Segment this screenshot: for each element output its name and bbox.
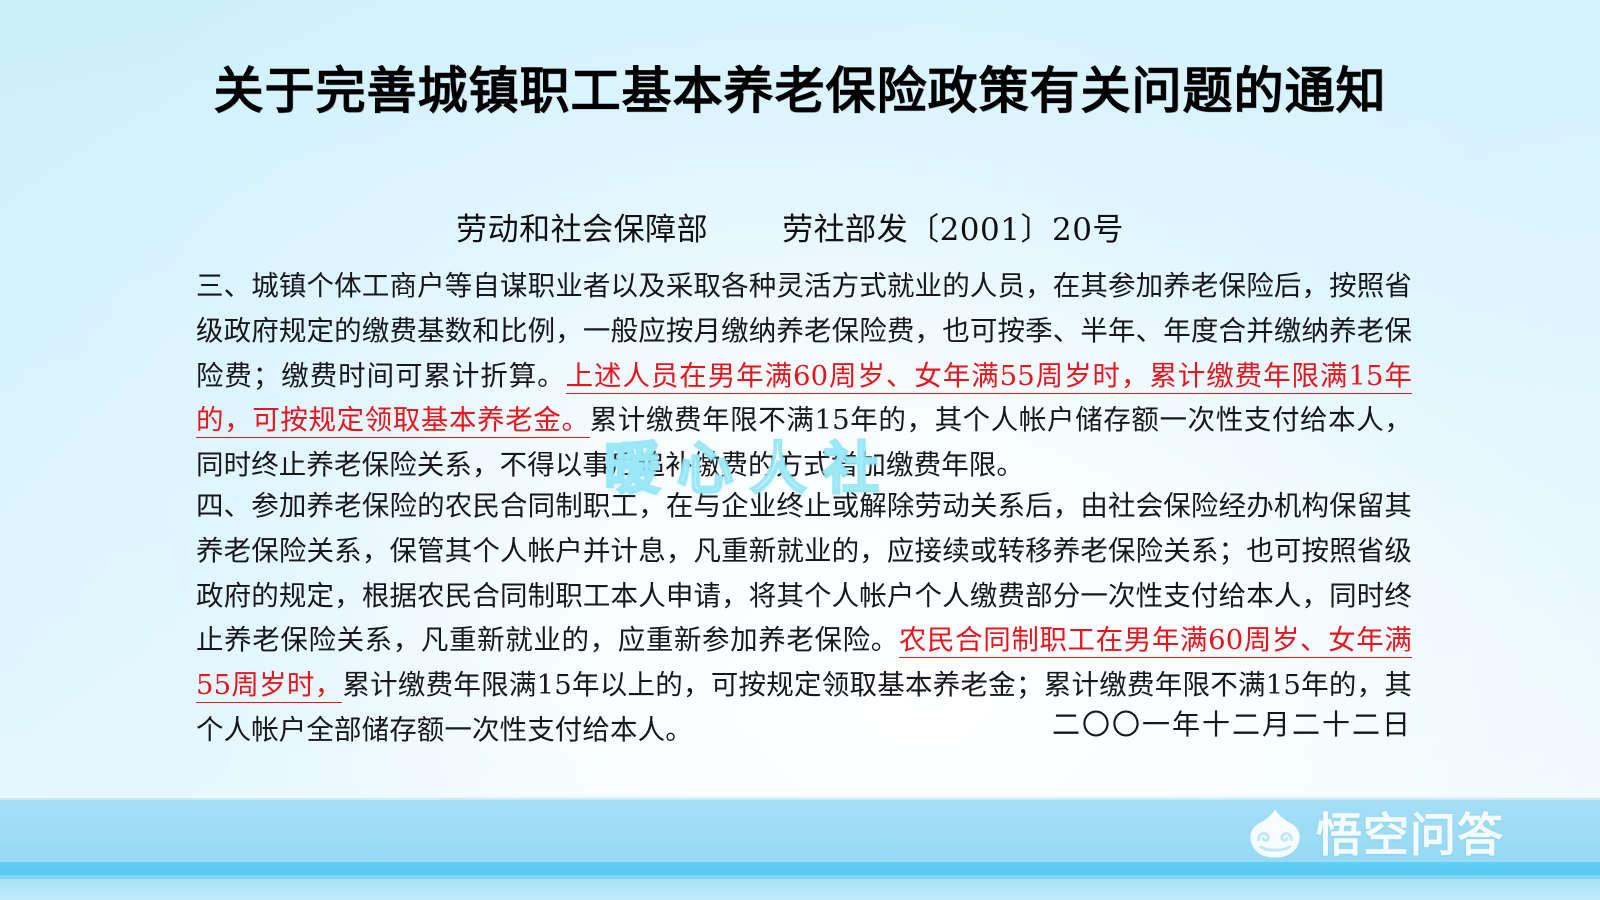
page-title: 关于完善城镇职工基本养老保险政策有关问题的通知	[180, 62, 1420, 120]
document-number: 劳社部发〔2001〕20号	[782, 212, 1124, 248]
document-content: 关于完善城镇职工基本养老保险政策有关问题的通知 劳动和社会保障部劳社部发〔200…	[0, 0, 1600, 900]
issue-date: 二〇〇一年十二月二十二日	[1052, 704, 1412, 746]
document-subtitle: 劳动和社会保障部劳社部发〔2001〕20号	[200, 210, 1380, 250]
paragraph-three: 三、城镇个体工商户等自谋职业者以及采取各种灵活方式就业的人员，在其参加养老保险后…	[196, 264, 1412, 488]
document-page: 关于完善城镇职工基本养老保险政策有关问题的通知 劳动和社会保障部劳社部发〔200…	[0, 0, 1600, 900]
issuing-authority: 劳动和社会保障部	[456, 212, 708, 248]
